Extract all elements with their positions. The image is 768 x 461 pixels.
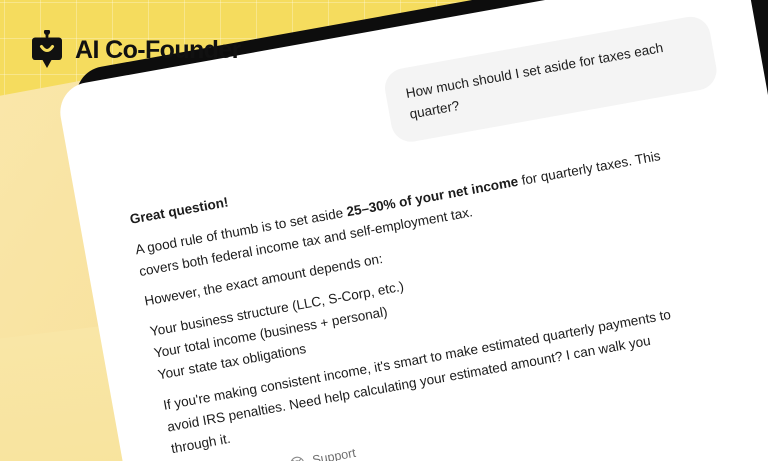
brand-logo: AI Co-Founder xyxy=(30,30,241,70)
brand-name: AI Co-Founder xyxy=(75,36,241,65)
robot-chat-bubble-icon xyxy=(30,30,64,70)
chat-thread: How much should I set aside for taxes ea… xyxy=(108,14,768,461)
support-button[interactable]: Support xyxy=(287,443,357,461)
screenshot-stage: AI Co-Founder How much should I set asid… xyxy=(0,0,768,461)
lifebuoy-icon xyxy=(287,454,307,461)
support-label: Support xyxy=(311,443,358,461)
assistant-greeting-text: Great question! xyxy=(129,194,230,226)
